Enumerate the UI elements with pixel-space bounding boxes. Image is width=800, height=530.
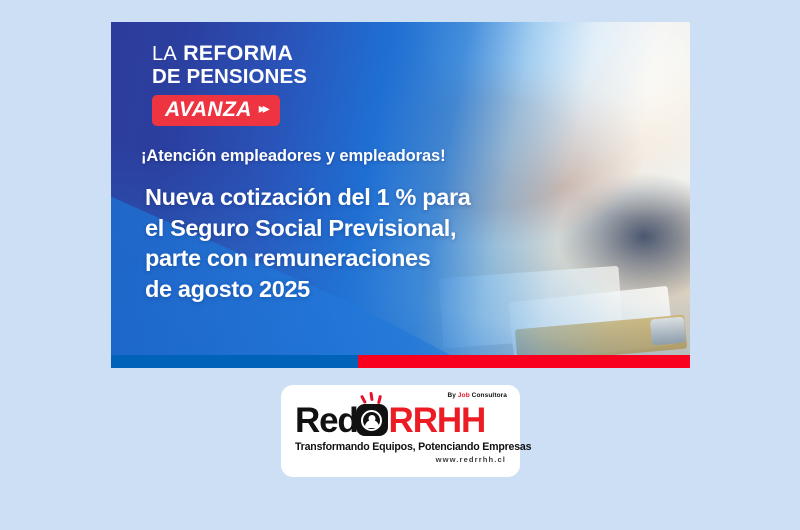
spark-icon — [369, 392, 373, 401]
campaign-line-1: LA REFORMA — [152, 42, 382, 65]
campaign-lockup: LA REFORMA DE PENSIONES AVANZA ▸▸ — [152, 42, 382, 126]
person-in-circle-icon — [356, 404, 388, 436]
logo-icon-wrap — [356, 403, 390, 437]
logo-card: By Job Consultora Red RRHH Transformando… — [281, 385, 520, 477]
banner-bottom-stripes — [111, 355, 690, 368]
campaign-line-1-bold: REFORMA — [183, 41, 293, 65]
logo-byline-suffix: Consultora — [470, 392, 507, 399]
avanza-badge: AVANZA ▸▸ — [152, 95, 280, 126]
logo-wordmark: Red RRHH — [295, 402, 485, 438]
campaign-line-1-thin: LA — [152, 43, 177, 65]
double-chevron-right-icon: ▸▸ — [259, 100, 267, 117]
stripe-blue — [111, 355, 358, 368]
stripe-red — [358, 355, 690, 368]
spark-icon — [360, 395, 366, 404]
person-in-circle-glyph — [361, 410, 382, 431]
attention-label: ¡Atención empleadores y empleadoras! — [141, 147, 446, 166]
banner-headline: Nueva cotización del 1 % para el Seguro … — [145, 182, 471, 304]
logo-website: www.redrrhh.cl — [436, 455, 506, 464]
logo-wordmark-red: RRHH — [389, 403, 486, 438]
avanza-badge-label: AVANZA — [165, 98, 252, 122]
spark-icon — [376, 395, 381, 404]
logo-inner: By Job Consultora Red RRHH Transformando… — [281, 385, 520, 477]
campaign-line-2: DE PENSIONES — [152, 66, 382, 89]
logo-byline-highlight: Job — [458, 392, 470, 399]
logo-tagline: Transformando Equipos, Potenciando Empre… — [295, 441, 531, 453]
logo-byline: By Job Consultora — [448, 392, 508, 399]
campaign-banner: LA REFORMA DE PENSIONES AVANZA ▸▸ ¡Atenc… — [111, 22, 690, 368]
logo-byline-prefix: By — [448, 392, 458, 399]
logo-wordmark-dark: Red — [295, 403, 358, 438]
